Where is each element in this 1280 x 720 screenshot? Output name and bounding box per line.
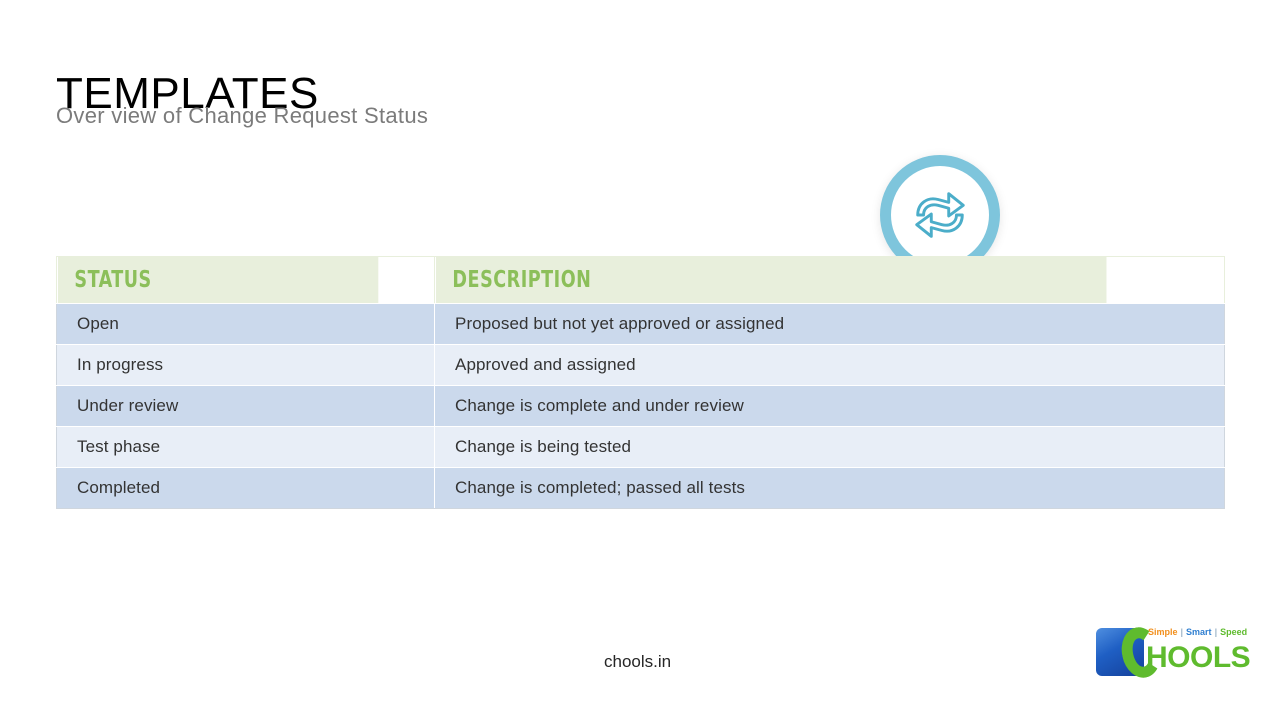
cell-description: Proposed but not yet approved or assigne… <box>435 304 1225 345</box>
table-row: Completed Change is completed; passed al… <box>57 468 1225 509</box>
sync-arrows-icon <box>909 184 971 246</box>
cell-status: Completed <box>57 468 435 509</box>
cell-description: Change is completed; passed all tests <box>435 468 1225 509</box>
logo-tagline: Simple|Smart|Speed <box>1148 628 1247 637</box>
cell-status: In progress <box>57 345 435 386</box>
chools-logo: Simple|Smart|Speed HOOLS <box>1096 625 1228 683</box>
tagline-separator-2: | <box>1212 627 1221 637</box>
table-header-row: STATUS DESCRIPTION <box>57 257 1225 304</box>
cell-status: Test phase <box>57 427 435 468</box>
tagline-speed: Speed <box>1220 627 1247 637</box>
column-header-description: DESCRIPTION <box>435 257 1107 304</box>
page-subtitle: Over view of Change Request Status <box>56 103 428 129</box>
cell-description: Change is being tested <box>435 427 1225 468</box>
tagline-simple: Simple <box>1148 627 1178 637</box>
table-row: Test phase Change is being tested <box>57 427 1225 468</box>
column-header-status: STATUS <box>57 257 378 304</box>
table-row: Open Proposed but not yet approved or as… <box>57 304 1225 345</box>
cell-status: Under review <box>57 386 435 427</box>
tagline-separator-1: | <box>1178 627 1187 637</box>
cell-description: Approved and assigned <box>435 345 1225 386</box>
table-row: In progress Approved and assigned <box>57 345 1225 386</box>
table-row: Under review Change is complete and unde… <box>57 386 1225 427</box>
table-body: Open Proposed but not yet approved or as… <box>57 304 1225 509</box>
logo-wordmark: HOOLS <box>1146 643 1250 673</box>
footer-url: chools.in <box>604 652 671 672</box>
cell-status: Open <box>57 304 435 345</box>
cell-description: Change is complete and under review <box>435 386 1225 427</box>
tagline-smart: Smart <box>1186 627 1212 637</box>
change-request-status-table: STATUS DESCRIPTION Open Proposed but not… <box>56 256 1225 509</box>
table-header: STATUS DESCRIPTION <box>57 257 1225 304</box>
